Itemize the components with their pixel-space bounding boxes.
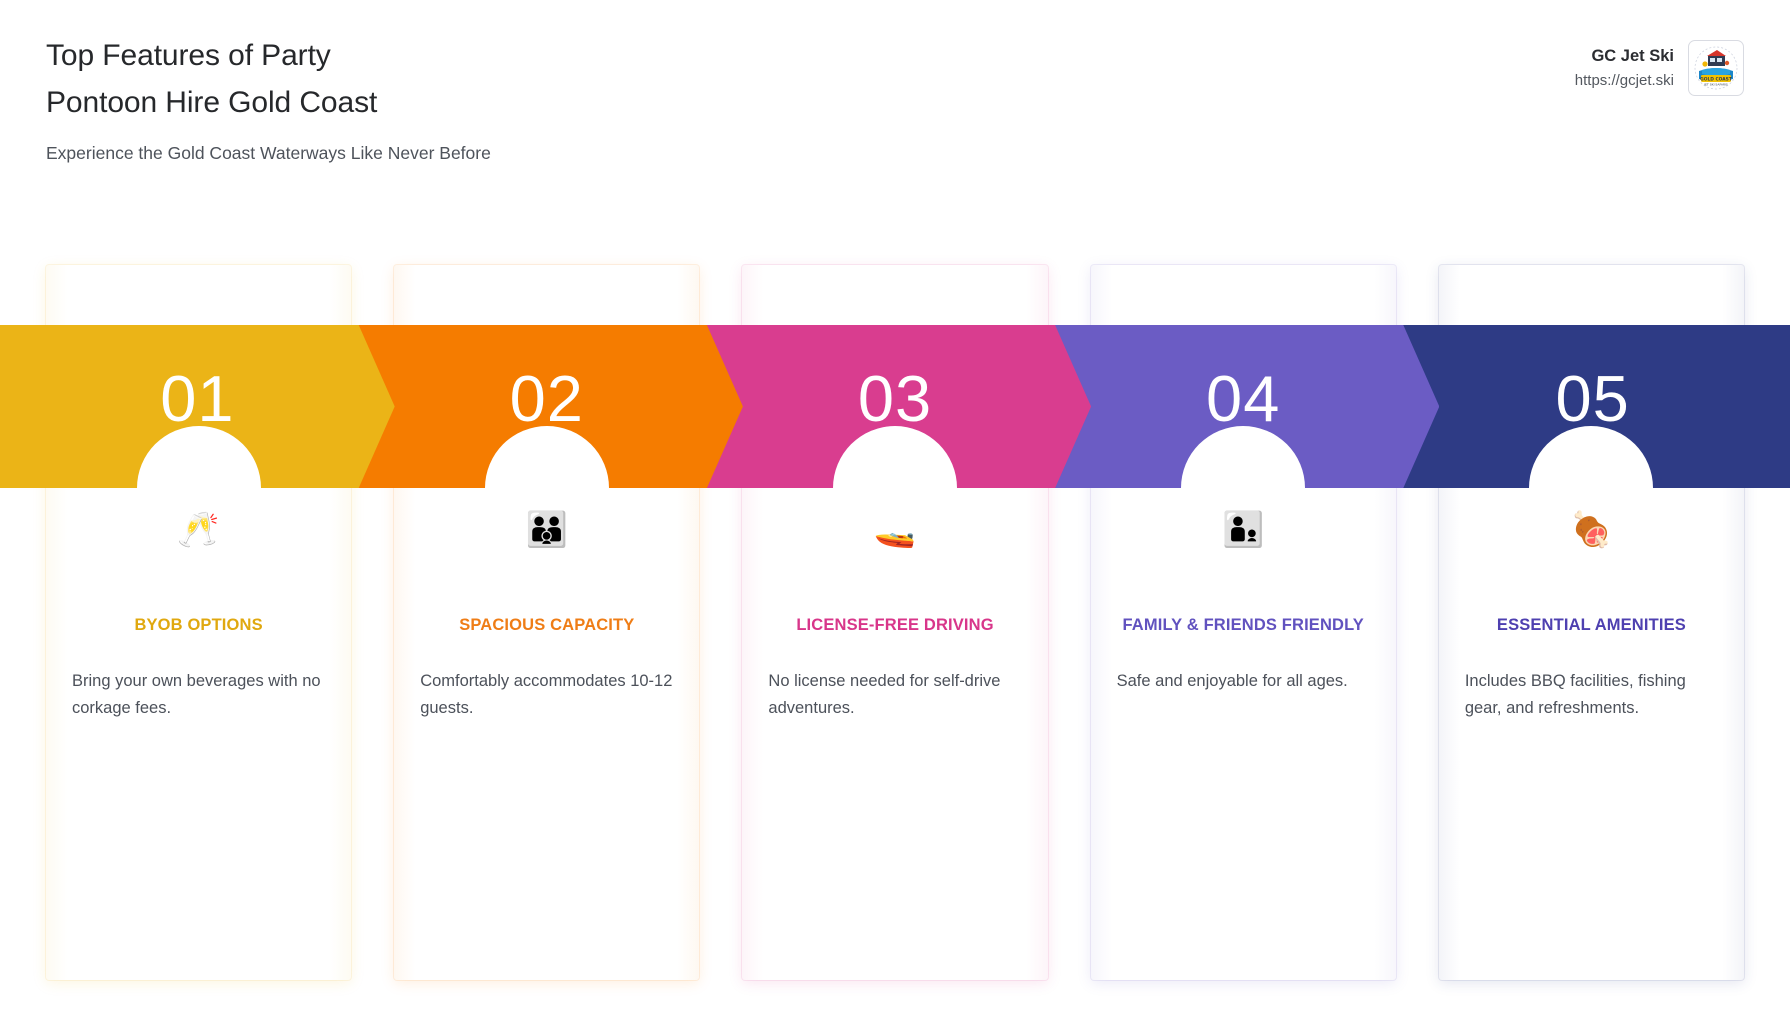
brand-logo: GOLD COAST JET SKI SAFARIS [1688, 40, 1744, 96]
brand-name: GC Jet Ski [1575, 45, 1674, 67]
feature-card-1[interactable]: 🥂 BYOB OPTIONS Bring your own beverages … [46, 265, 351, 980]
speedboat-icon: 🚤 [766, 510, 1023, 550]
feature-card-4-body: 👨‍👦 FAMILY & FRIENDS FRIENDLY Safe and e… [1091, 510, 1396, 695]
feature-card-3-body: 🚤 LICENSE-FREE DRIVING No license needed… [742, 510, 1047, 722]
feature-card-2-body: 👪 SPACIOUS CAPACITY Comfortably accommod… [394, 510, 699, 722]
page-subtitle: Experience the Gold Coast Waterways Like… [46, 141, 491, 166]
feature-card-2[interactable]: 👪 SPACIOUS CAPACITY Comfortably accommod… [394, 265, 699, 980]
feature-card-4-title: FAMILY & FRIENDS FRIENDLY [1115, 612, 1372, 638]
feature-card-4[interactable]: 👨‍👦 FAMILY & FRIENDS FRIENDLY Safe and e… [1091, 265, 1396, 980]
feature-card-5-title: ESSENTIAL AMENITIES [1463, 612, 1720, 638]
feature-card-5-description: Includes BBQ facilities, fishing gear, a… [1463, 668, 1720, 721]
feature-card-5[interactable]: 🍖 ESSENTIAL AMENITIES Includes BBQ facil… [1439, 265, 1744, 980]
gold-coast-jet-ski-logo-icon: GOLD COAST JET SKI SAFARIS [1693, 45, 1739, 91]
svg-text:JET SKI SAFARIS: JET SKI SAFARIS [1703, 83, 1728, 87]
infographic-page: Top Features of Party Pontoon Hire Gold … [0, 0, 1790, 1024]
feature-card-5-body: 🍖 ESSENTIAL AMENITIES Includes BBQ facil… [1439, 510, 1744, 722]
clinking-glasses-icon: 🥂 [70, 510, 327, 550]
meat-on-bone-icon: 🍖 [1463, 510, 1720, 550]
title-block: Top Features of Party Pontoon Hire Gold … [46, 33, 491, 166]
feature-card-1-body: 🥂 BYOB OPTIONS Bring your own beverages … [46, 510, 351, 722]
brand-text: GC Jet Ski https://gcjet.ski [1575, 45, 1674, 90]
feature-card-2-title: SPACIOUS CAPACITY [418, 612, 675, 638]
feature-cards-row: 🥂 BYOB OPTIONS Bring your own beverages … [46, 265, 1744, 980]
feature-card-3-title: LICENSE-FREE DRIVING [766, 612, 1023, 638]
feature-card-1-description: Bring your own beverages with no corkage… [70, 668, 327, 721]
feature-card-3-description: No license needed for self-drive adventu… [766, 668, 1023, 721]
feature-card-2-description: Comfortably accommodates 10-12 guests. [418, 668, 675, 721]
feature-card-1-title: BYOB OPTIONS [70, 612, 327, 638]
man-and-boy-family-icon: 👨‍👦 [1115, 510, 1372, 550]
family-icon: 👪 [418, 510, 675, 550]
page-title-line-2: Pontoon Hire Gold Coast [46, 80, 491, 127]
page-header: Top Features of Party Pontoon Hire Gold … [0, 0, 1790, 200]
feature-card-3[interactable]: 🚤 LICENSE-FREE DRIVING No license needed… [742, 265, 1047, 980]
page-title: Top Features of Party Pontoon Hire Gold … [46, 33, 491, 126]
page-title-line-1: Top Features of Party [46, 33, 491, 80]
brand-block: GC Jet Ski https://gcjet.ski GOLD COAST [1575, 40, 1744, 96]
brand-url[interactable]: https://gcjet.ski [1575, 70, 1674, 91]
feature-card-4-description: Safe and enjoyable for all ages. [1115, 668, 1372, 695]
